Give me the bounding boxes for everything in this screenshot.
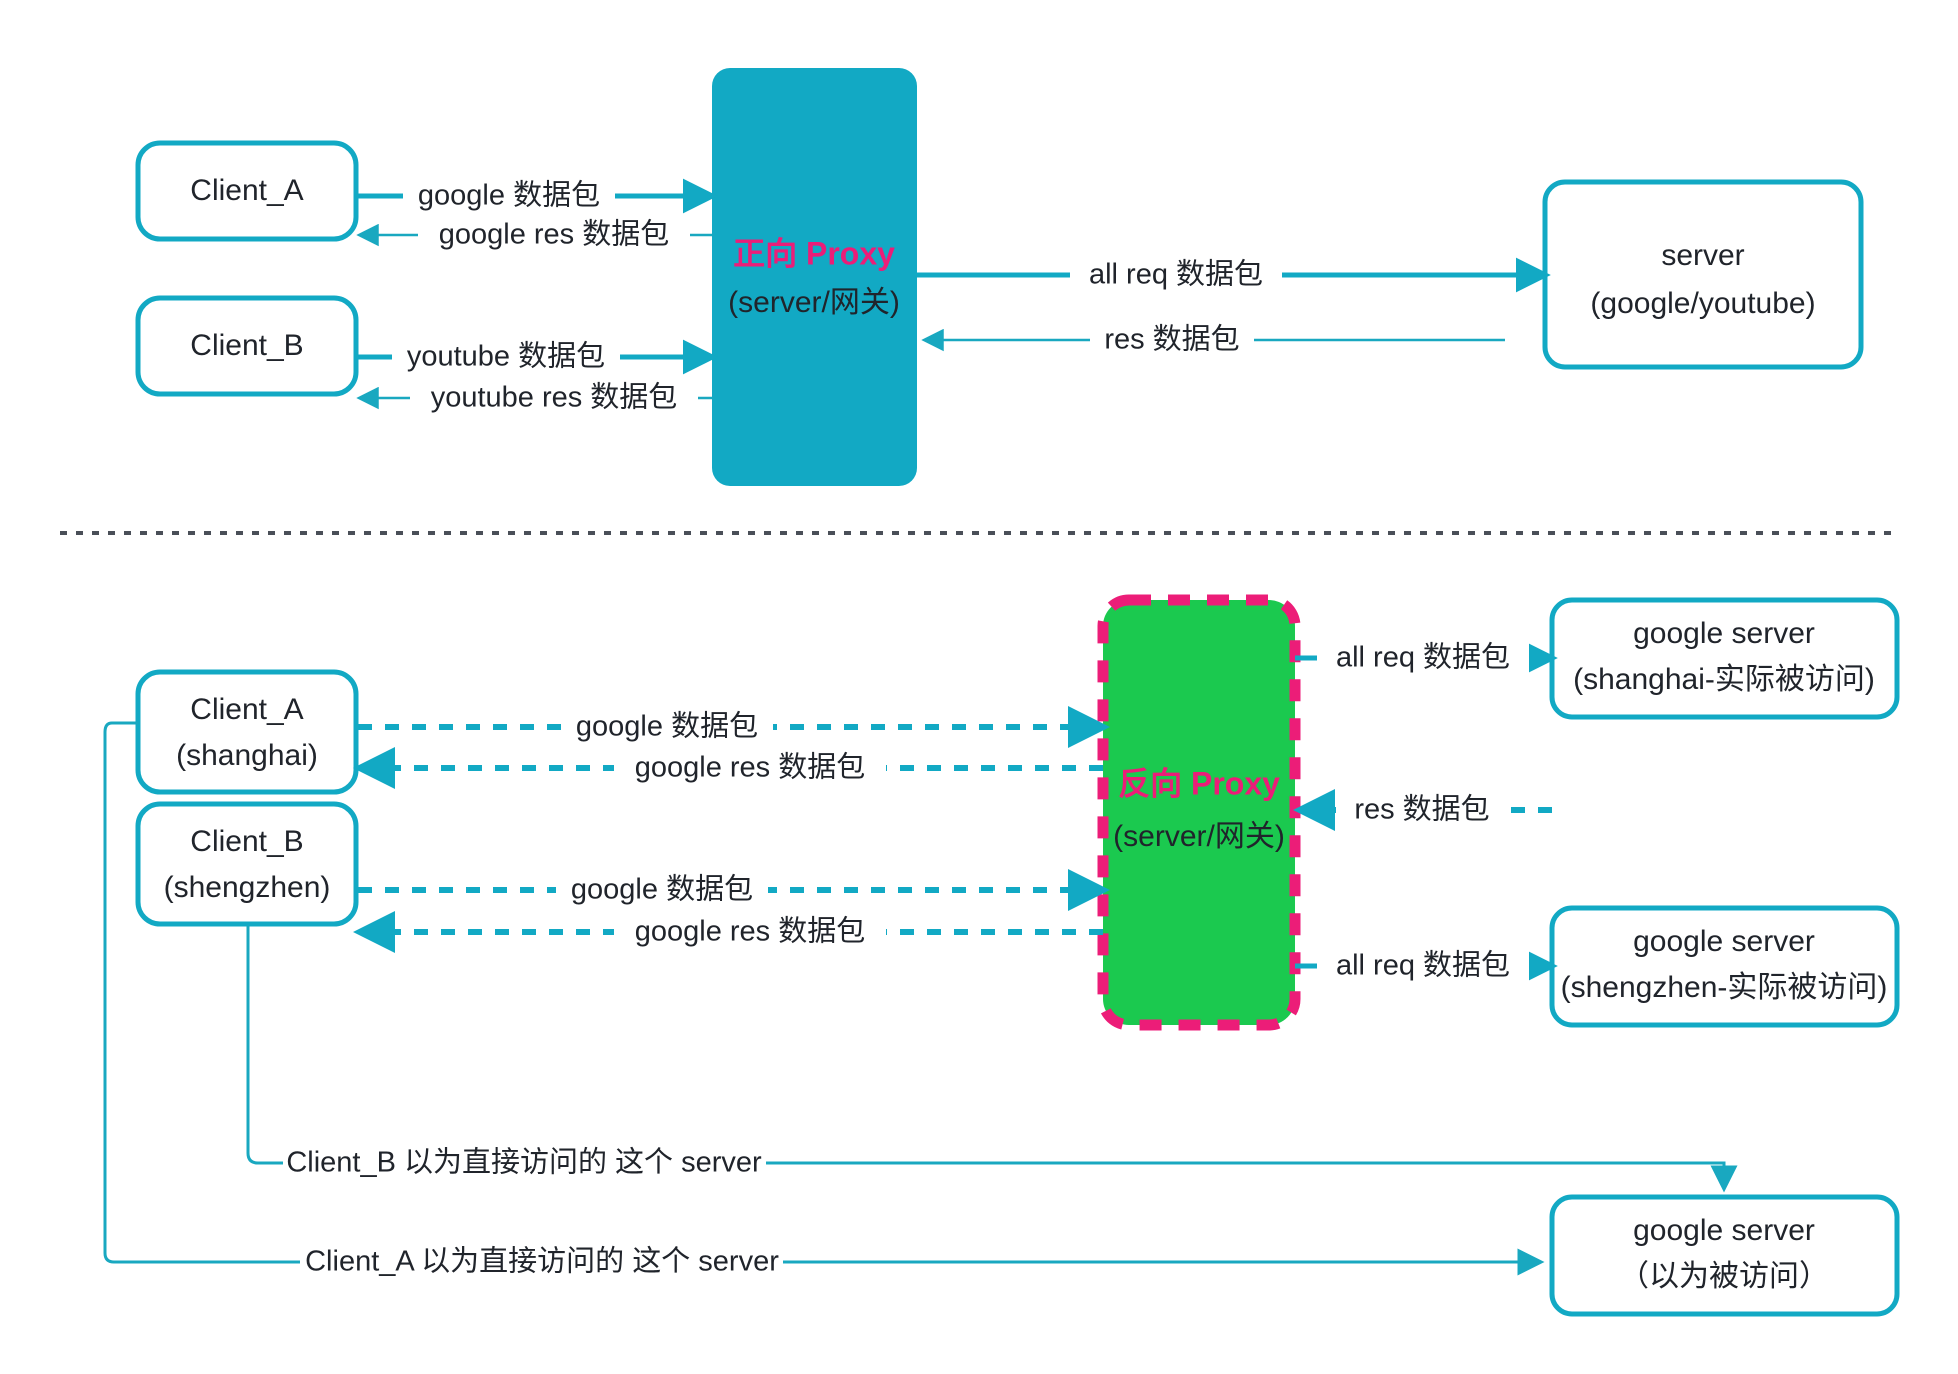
reverse-proxy-title: 反向 Proxy bbox=[1118, 765, 1280, 801]
edge-reverse-proxy-res-label: res 数据包 bbox=[1354, 793, 1489, 826]
edge-reverse-a-req-label: google 数据包 bbox=[576, 710, 758, 743]
reverse-client-a-box[interactable]: Client_A (shanghai) bbox=[138, 672, 356, 792]
reverse-server-shengzhen-line2: (shengzhen-实际被访问) bbox=[1561, 971, 1888, 1004]
diagram-canvas: Client_A Client_B 正向 Proxy (server/网关) s… bbox=[0, 0, 1958, 1374]
forward-proxy-subtitle: (server/网关) bbox=[728, 286, 900, 319]
edge-forward-proxy-req-label: all req 数据包 bbox=[1089, 258, 1263, 291]
forward-client-a-label: Client_A bbox=[190, 174, 303, 207]
edge-reverse-b-res: google res 数据包 bbox=[360, 913, 1103, 951]
forward-server-line2: (google/youtube) bbox=[1590, 287, 1815, 320]
edge-reverse-proxy-shengzhen: all req 数据包 bbox=[1295, 947, 1552, 985]
forward-client-a-box[interactable]: Client_A bbox=[138, 143, 356, 239]
reverse-proxy-subtitle: (server/网关) bbox=[1113, 820, 1285, 853]
edge-reverse-a-res-label: google res 数据包 bbox=[635, 751, 866, 784]
edge-forward-proxy-res-label: res 数据包 bbox=[1104, 323, 1239, 356]
edge-forward-b-req: youtube 数据包 bbox=[358, 338, 712, 376]
annotation-client-b-label: Client_B 以为直接访问的 这个 server bbox=[286, 1146, 762, 1179]
edge-forward-proxy-res: res 数据包 bbox=[925, 321, 1505, 359]
reverse-server-shengzhen-box[interactable]: google server (shengzhen-实际被访问) bbox=[1552, 908, 1897, 1025]
forward-server-line1: server bbox=[1661, 239, 1744, 272]
forward-server-box[interactable]: server (google/youtube) bbox=[1545, 182, 1861, 367]
reverse-server-shanghai-line1: google server bbox=[1633, 617, 1815, 650]
edge-reverse-proxy-res: res 数据包 bbox=[1300, 791, 1552, 829]
forward-client-b-label: Client_B bbox=[190, 329, 303, 362]
edge-forward-a-req: google 数据包 bbox=[358, 177, 712, 215]
reverse-client-a-line2: (shanghai) bbox=[176, 739, 318, 772]
edge-reverse-a-res: google res 数据包 bbox=[360, 749, 1103, 787]
edge-reverse-b-req: google 数据包 bbox=[358, 871, 1103, 909]
forward-proxy-box[interactable]: 正向 Proxy (server/网关) bbox=[712, 68, 917, 486]
reverse-client-b-line1: Client_B bbox=[190, 825, 303, 858]
edge-reverse-proxy-shanghai-label: all req 数据包 bbox=[1336, 641, 1510, 674]
edge-forward-b-res-label: youtube res 数据包 bbox=[431, 381, 678, 414]
edge-forward-a-res: google res 数据包 bbox=[360, 216, 712, 254]
edge-reverse-b-res-label: google res 数据包 bbox=[635, 915, 866, 948]
edge-reverse-proxy-shanghai: all req 数据包 bbox=[1295, 639, 1552, 677]
edge-forward-b-req-label: youtube 数据包 bbox=[407, 340, 605, 373]
reverse-proxy-box[interactable]: 反向 Proxy (server/网关) bbox=[1103, 600, 1295, 1025]
reverse-server-assumed-line1: google server bbox=[1633, 1214, 1815, 1247]
reverse-client-b-line2: (shengzhen) bbox=[164, 871, 331, 904]
annotation-client-a-label: Client_A 以为直接访问的 这个 server bbox=[305, 1245, 779, 1278]
edge-forward-b-res: youtube res 数据包 bbox=[360, 379, 712, 417]
edge-forward-a-req-label: google 数据包 bbox=[418, 179, 600, 212]
reverse-client-a-line1: Client_A bbox=[190, 693, 303, 726]
reverse-client-b-box[interactable]: Client_B (shengzhen) bbox=[138, 804, 356, 924]
reverse-server-shengzhen-line1: google server bbox=[1633, 925, 1815, 958]
forward-proxy-title: 正向 Proxy bbox=[733, 235, 895, 271]
reverse-server-shanghai-box[interactable]: google server (shanghai-实际被访问) bbox=[1552, 600, 1897, 717]
edge-forward-proxy-req: all req 数据包 bbox=[917, 256, 1545, 294]
edge-reverse-b-req-label: google 数据包 bbox=[571, 873, 753, 906]
reverse-server-assumed-line2: （以为被访问） bbox=[1619, 1260, 1829, 1293]
diagram-svg: Client_A Client_B 正向 Proxy (server/网关) s… bbox=[0, 0, 1958, 1374]
edge-reverse-proxy-shengzhen-label: all req 数据包 bbox=[1336, 949, 1510, 982]
forward-client-b-box[interactable]: Client_B bbox=[138, 298, 356, 394]
edge-forward-a-res-label: google res 数据包 bbox=[439, 218, 670, 251]
reverse-server-shanghai-line2: (shanghai-实际被访问) bbox=[1573, 663, 1875, 696]
edge-reverse-a-req: google 数据包 bbox=[358, 708, 1103, 746]
reverse-server-assumed-box[interactable]: google server （以为被访问） bbox=[1552, 1197, 1897, 1314]
